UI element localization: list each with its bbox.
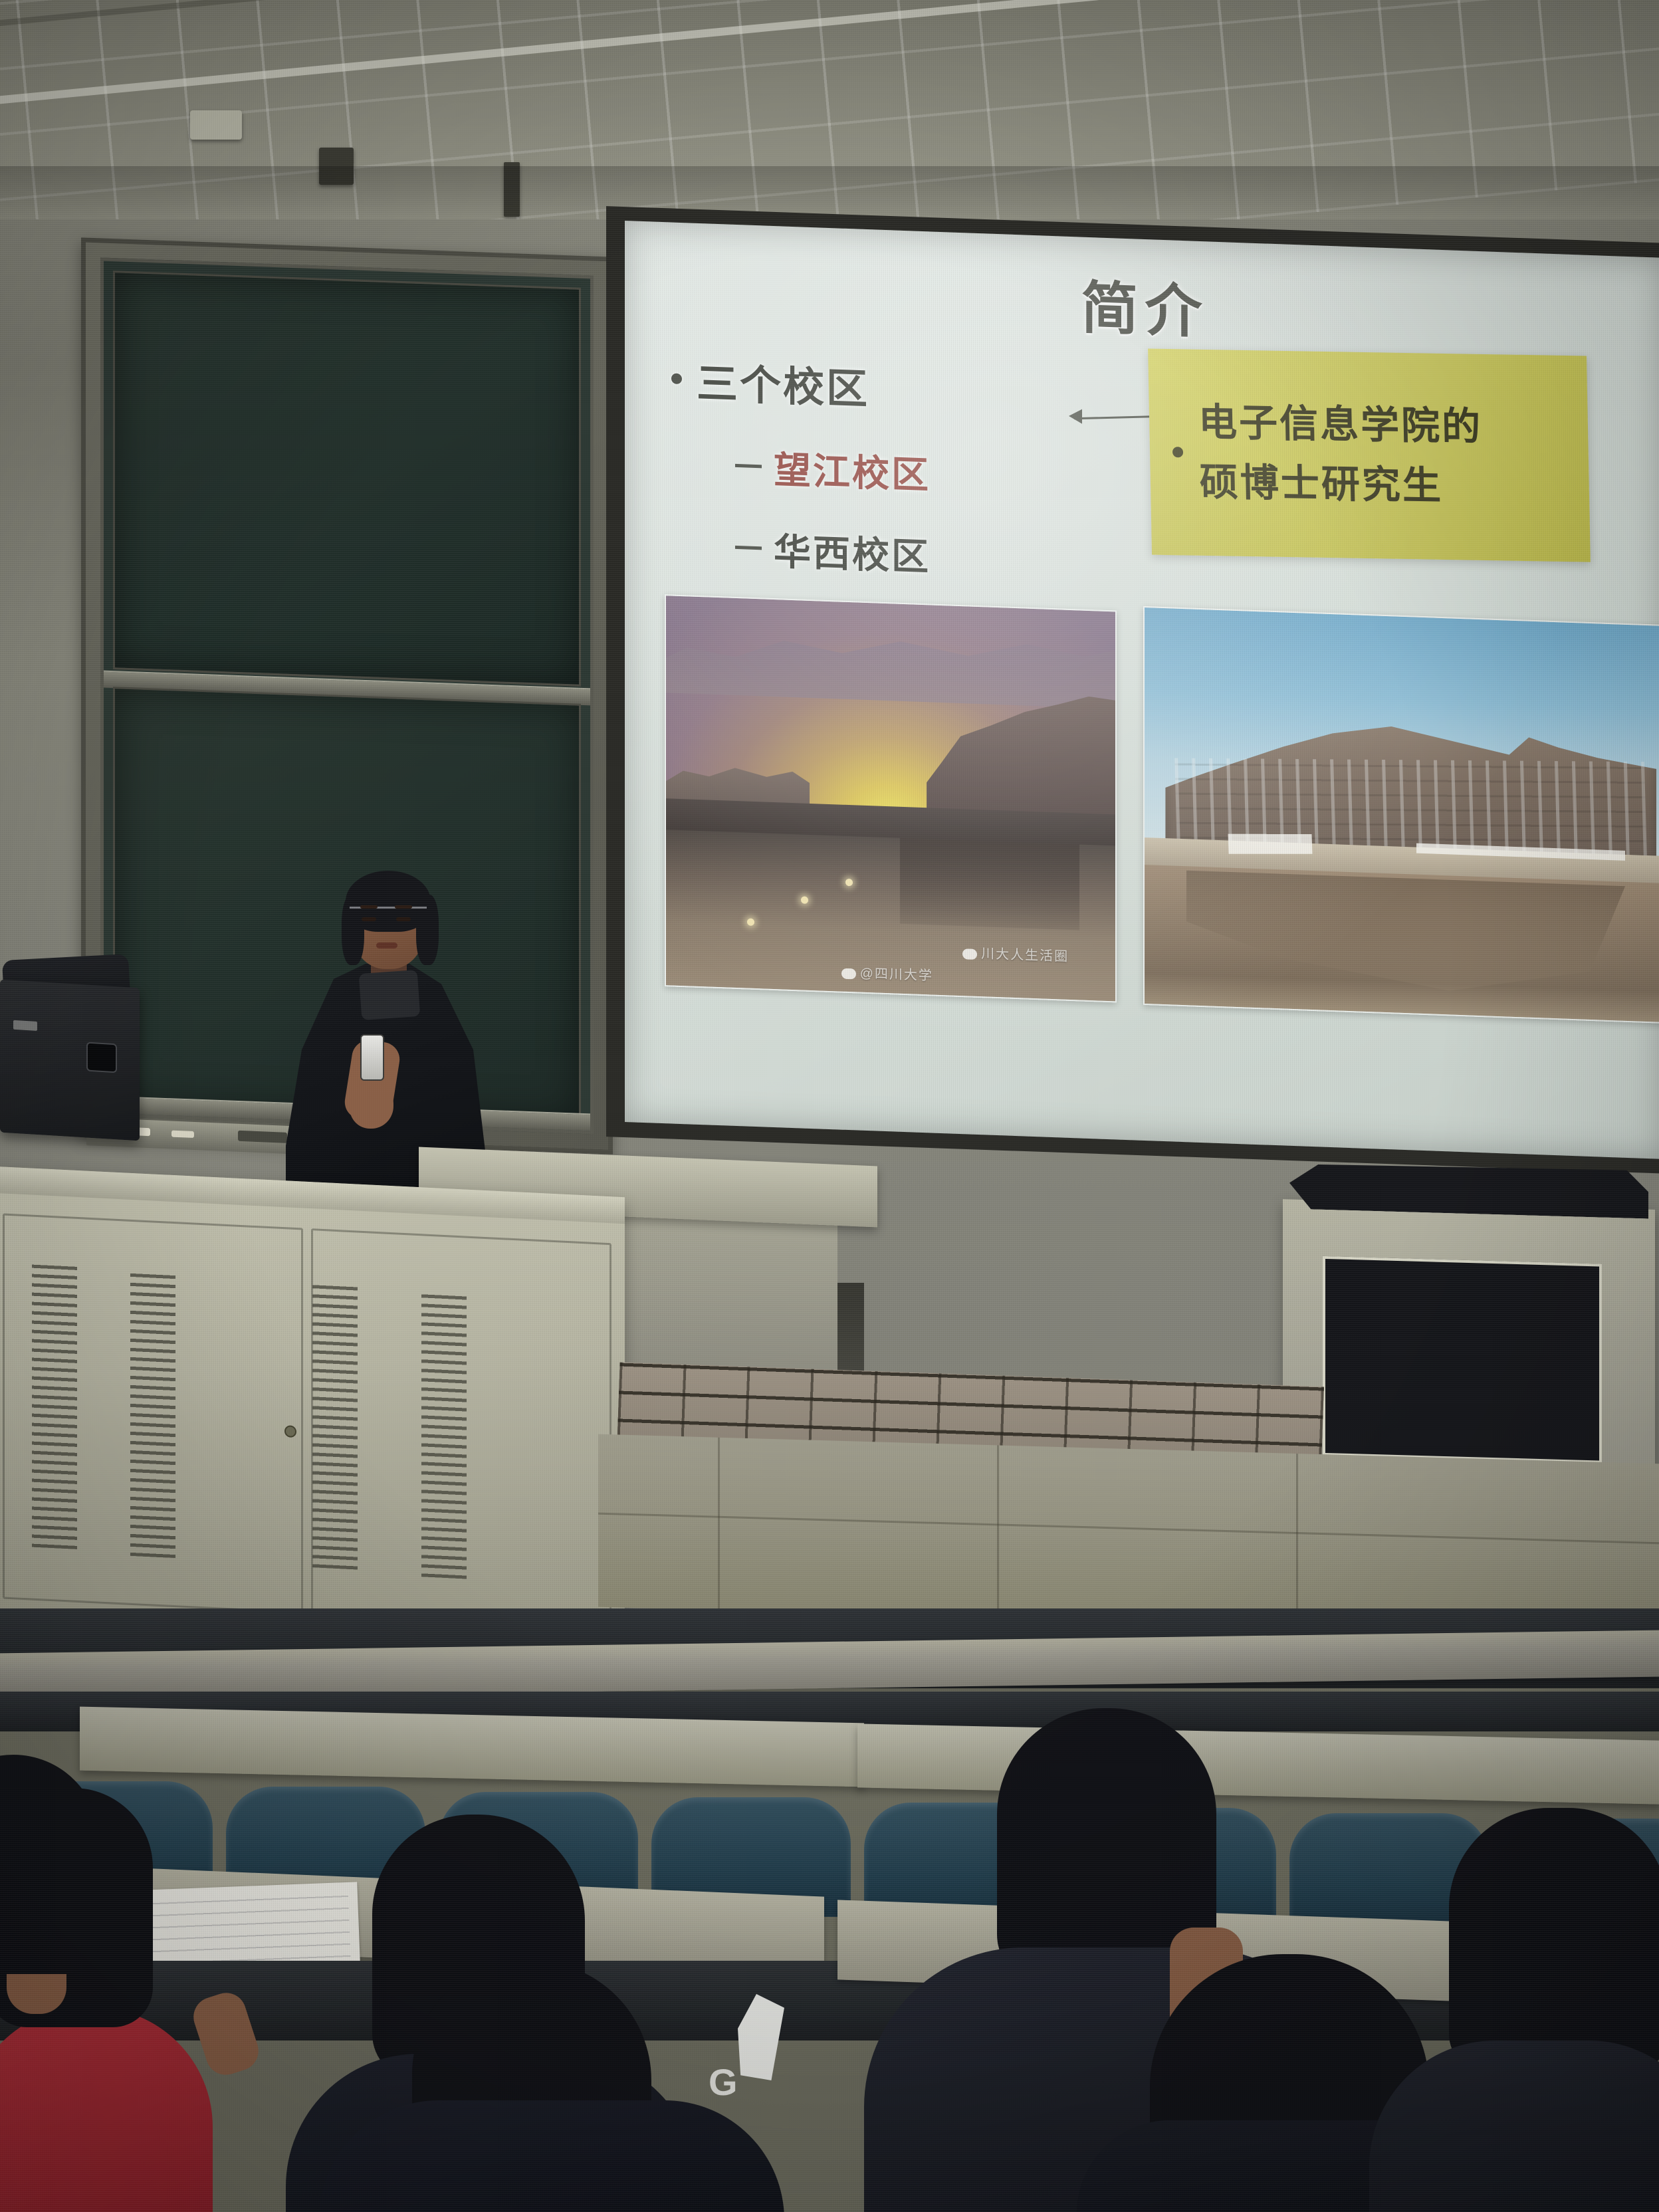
callout-arrow-head-icon <box>1069 409 1082 424</box>
chalk-piece[interactable] <box>171 1131 194 1138</box>
projection-screen[interactable]: 简介 三个校区 望江校区 华西校区 江安校区 <box>625 221 1659 1159</box>
cabinet-vent <box>32 1262 77 1549</box>
watermark-logo-icon <box>841 968 856 980</box>
board-eraser[interactable] <box>238 1131 287 1143</box>
callout-line-2: 硕博士研究生 <box>1199 453 1484 517</box>
ceiling-light-fixture <box>190 110 242 140</box>
presenter-collar <box>359 970 421 1020</box>
cabinet-vent <box>130 1270 175 1558</box>
projector-control-unit[interactable] <box>0 980 140 1141</box>
presenter-hair-right <box>416 895 439 965</box>
stage-floor <box>598 1434 1659 1637</box>
presenter-brow-left <box>360 905 378 909</box>
watermark-text: 川大人生活圈 <box>981 946 1069 964</box>
bullet-level2-wangjiang: 望江校区 <box>735 439 1150 507</box>
sunset-lamp-light <box>747 918 754 925</box>
slide-title: 简介 <box>625 245 1659 365</box>
floor-seam <box>718 1438 720 1610</box>
student-hair <box>1449 1808 1659 2074</box>
callout-line-1: 电子信息学院的 <box>1198 393 1483 457</box>
callout-bullet-dot-icon <box>1172 447 1183 457</box>
handheld-microphone[interactable] <box>360 1034 384 1081</box>
student-jacket <box>319 2100 784 2212</box>
bullet-dash-icon <box>735 546 762 550</box>
cabinet-vent <box>312 1281 358 1569</box>
bullet-label: 三个校区 <box>697 350 869 415</box>
presenter-eye-left <box>362 917 376 921</box>
ceiling <box>0 0 1659 219</box>
bullet-dash-icon <box>735 464 762 468</box>
floor-seam <box>598 1513 1659 1545</box>
projector-lens <box>86 1042 117 1073</box>
callout-text: 电子信息学院的 硕博士研究生 <box>1198 393 1484 517</box>
jacket-logo-letter: G <box>709 2060 738 2104</box>
presenter-brow-right <box>395 905 412 909</box>
floor-seam <box>1296 1454 1298 1626</box>
presenter-eye-right <box>396 917 411 921</box>
ceiling-shadow <box>0 166 1659 219</box>
bullet-level2-huaxi: 华西校区 <box>735 520 1150 589</box>
watermark-sichuan-university: @四川大学 <box>841 962 933 984</box>
cabinet-lock[interactable] <box>284 1425 296 1438</box>
sunset-river-campus-photo: @四川大学 川大人生活圈 <box>665 594 1117 1002</box>
lecture-hall-scene: 简介 三个校区 望江校区 华西校区 江安校区 <box>0 0 1659 2212</box>
campus-building-reflection-photo <box>1143 606 1659 1024</box>
watermark-logo-icon <box>962 948 977 960</box>
watermark-chuanda-life-circle: 川大人生活圈 <box>962 942 1069 965</box>
presenter-mouth <box>376 942 397 948</box>
blackboard-pane-top <box>113 271 581 687</box>
sunset-building-reflection <box>900 837 1079 930</box>
presenter-hand <box>350 1083 393 1129</box>
side-cabinet-dark-panel <box>1323 1256 1602 1464</box>
bench-row-1b[interactable] <box>857 1723 1659 1804</box>
bullet-dot-icon <box>671 373 682 384</box>
cabinet-vent <box>421 1291 467 1579</box>
bullet-label: 华西校区 <box>774 522 931 581</box>
presentation-slide: 简介 三个校区 望江校区 华西校区 江安校区 <box>625 221 1659 1159</box>
watermark-text: @四川大学 <box>860 966 933 984</box>
floor-seam <box>997 1445 999 1618</box>
slide-callout-box: 电子信息学院的 硕博士研究生 <box>1148 349 1591 562</box>
white-canopy <box>1228 833 1312 853</box>
bullet-label: 望江校区 <box>774 440 931 499</box>
unit-label-strip <box>13 1020 37 1031</box>
